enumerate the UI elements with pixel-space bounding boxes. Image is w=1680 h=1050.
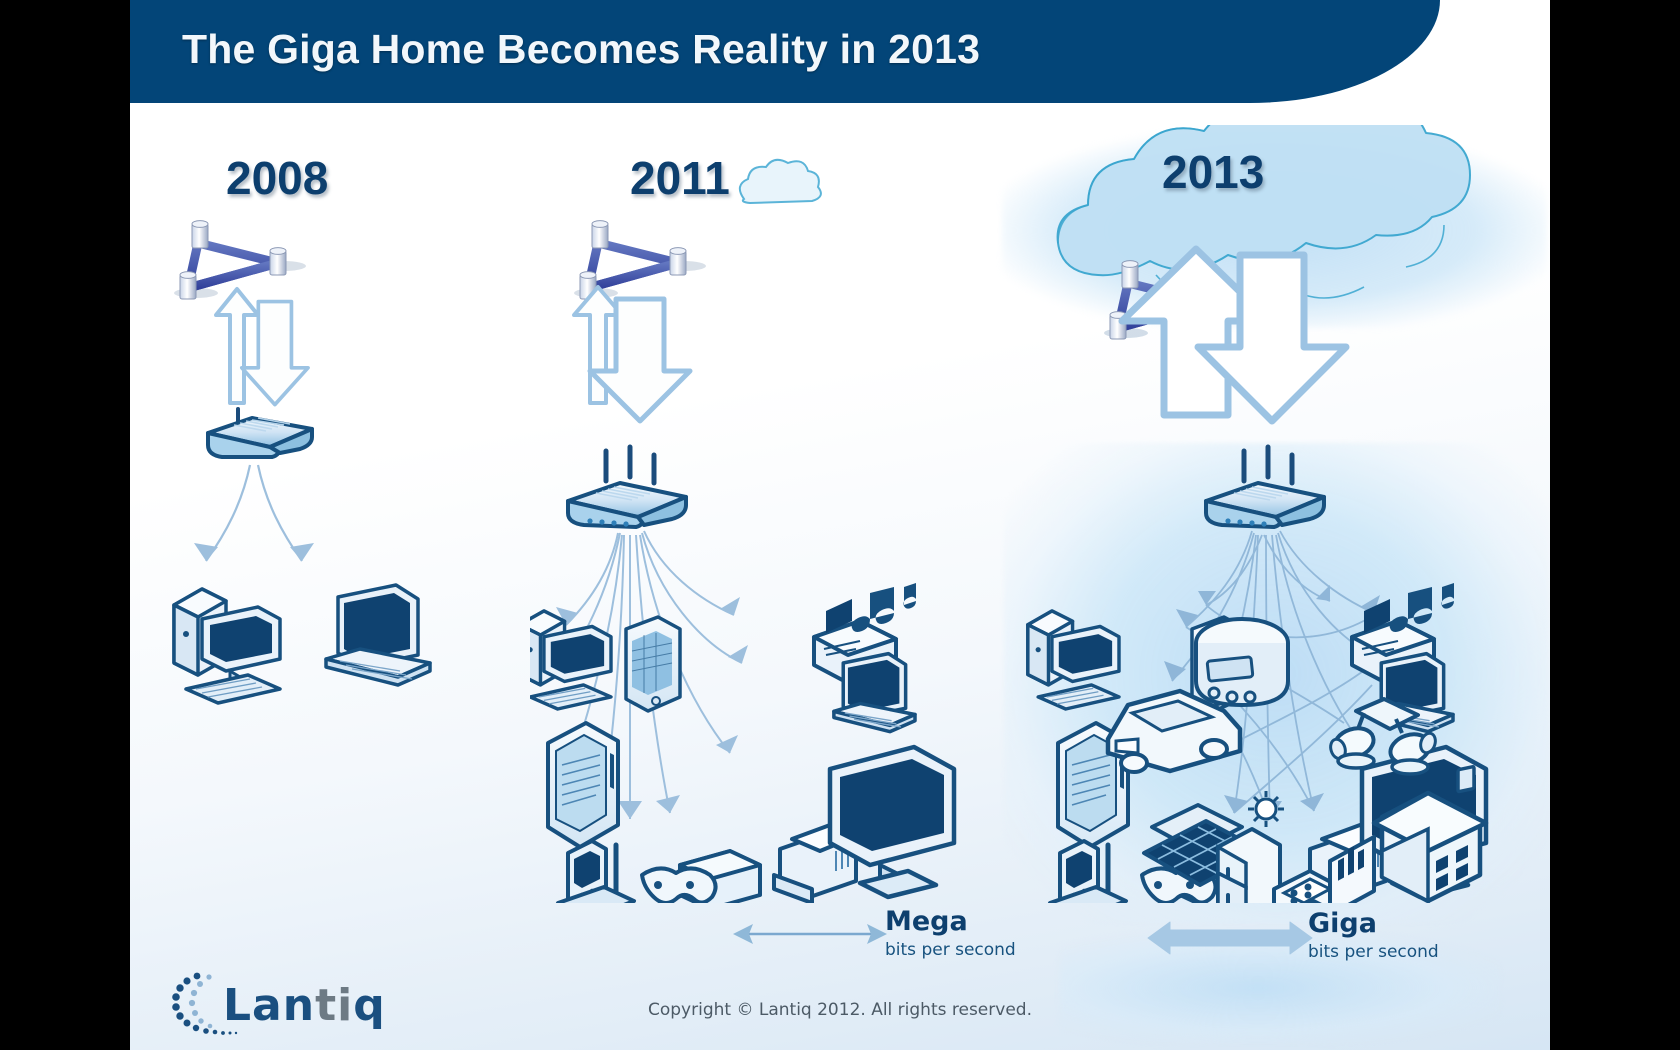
wifi-router-icon <box>1206 447 1324 527</box>
smart-meter-icon <box>1196 619 1288 705</box>
column-2008-graphics <box>130 103 530 903</box>
thin-double-arrow-icon <box>725 910 895 956</box>
bandwidth-legend-giga: Giga bits per second <box>1140 912 1490 990</box>
wifi-router-icon <box>568 447 686 527</box>
year-label-2013: 2013 <box>1162 145 1264 199</box>
tablet-ereader-icon <box>548 723 618 847</box>
connector-arrowheads <box>194 543 314 561</box>
cordless-phone-icon <box>1050 841 1126 903</box>
desktop-pc-icon <box>1028 611 1119 709</box>
legend-sub-mega: bits per second <box>885 940 1016 960</box>
column-2008: 2008 <box>130 103 530 903</box>
music-note-icon <box>852 583 916 632</box>
laptop-icon <box>326 585 430 685</box>
column-2013: 2013 <box>1000 103 1550 903</box>
cordless-phone-icon <box>558 841 634 903</box>
network-triangle-icon <box>574 221 706 299</box>
uplink-arrow-icon <box>216 289 258 403</box>
lantiq-logo: Lantiq <box>165 962 425 1042</box>
logo-wordmark: Lantiq <box>223 980 386 1031</box>
presentation-slide: The Giga Home Becomes Reality in 2013 20… <box>130 0 1550 1050</box>
music-note-icon <box>1390 583 1454 632</box>
legend-label-mega: Mega <box>885 906 968 937</box>
smartphone-icon <box>626 617 680 711</box>
game-console-icon <box>642 851 760 903</box>
logo-swoosh-secondary-icon <box>189 974 212 1028</box>
column-2013-graphics <box>1000 103 1550 903</box>
device-connectors <box>206 465 302 561</box>
column-2011: 2011 <box>530 103 1000 903</box>
internet-cloud-small-icon <box>740 160 821 203</box>
downlink-arrow-icon <box>242 302 308 405</box>
column-2011-graphics <box>530 103 1000 903</box>
page-title: The Giga Home Becomes Reality in 2013 <box>182 26 980 73</box>
screenshot-stage: The Giga Home Becomes Reality in 2013 20… <box>0 0 1680 1050</box>
thick-double-arrow-icon <box>1140 912 1320 964</box>
bandwidth-legend-mega: Mega bits per second <box>725 910 1055 982</box>
legend-label-giga: Giga <box>1308 908 1377 939</box>
desktop-pc-icon <box>530 611 611 709</box>
desktop-pc-icon <box>174 589 280 703</box>
modem-icon <box>208 409 312 457</box>
laptop-icon <box>834 654 915 732</box>
network-triangle-icon <box>174 221 306 299</box>
legend-sub-giga: bits per second <box>1308 942 1439 962</box>
